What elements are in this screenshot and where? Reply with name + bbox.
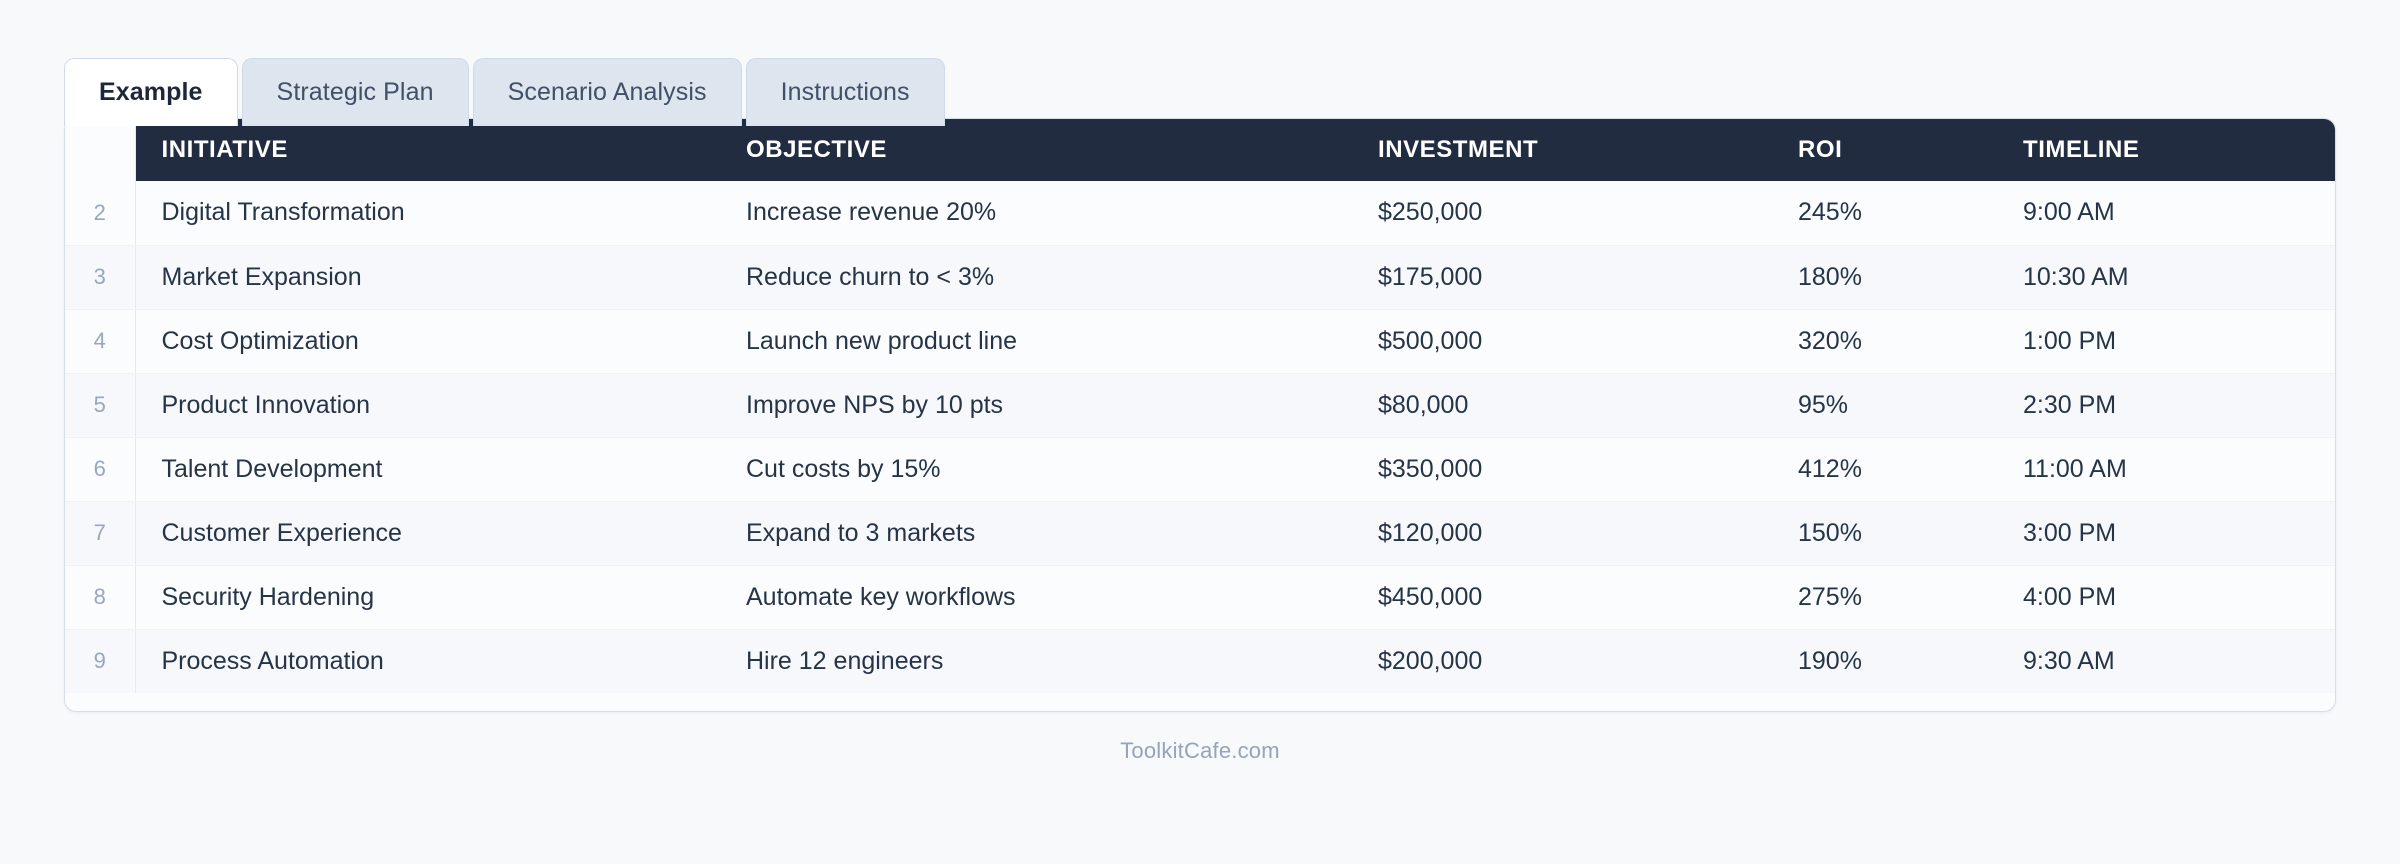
cell-initiative[interactable]: Product Innovation xyxy=(135,373,720,437)
row-number[interactable]: 7 xyxy=(65,501,135,565)
column-header-roi[interactable]: ROI xyxy=(1772,119,1997,181)
row-number[interactable]: 6 xyxy=(65,437,135,501)
table-header: INITIATIVEOBJECTIVEINVESTMENTROITIMELINE xyxy=(65,119,2336,181)
cell-initiative[interactable]: Market Expansion xyxy=(135,245,720,309)
row-number-header xyxy=(65,119,135,181)
cell-objective[interactable]: Reduce churn to < 3% xyxy=(720,245,1352,309)
cell-investment[interactable]: $350,000 xyxy=(1352,437,1772,501)
cell-roi[interactable]: 320% xyxy=(1772,309,1997,373)
cell-timeline[interactable]: 9:00 AM xyxy=(1997,181,2336,245)
cell-objective[interactable]: Improve NPS by 10 pts xyxy=(720,373,1352,437)
row-number[interactable]: 9 xyxy=(65,629,135,693)
cell-timeline[interactable]: 10:30 AM xyxy=(1997,245,2336,309)
cell-investment[interactable]: $120,000 xyxy=(1352,501,1772,565)
row-number[interactable]: 4 xyxy=(65,309,135,373)
cell-investment[interactable]: $250,000 xyxy=(1352,181,1772,245)
cell-initiative[interactable]: Cost Optimization xyxy=(135,309,720,373)
cell-objective[interactable]: Cut costs by 15% xyxy=(720,437,1352,501)
table-row[interactable]: 9Process AutomationHire 12 engineers$200… xyxy=(65,629,2336,693)
cell-initiative[interactable]: Talent Development xyxy=(135,437,720,501)
cell-objective[interactable]: Automate key workflows xyxy=(720,565,1352,629)
cell-initiative[interactable]: Customer Experience xyxy=(135,501,720,565)
cell-roi[interactable]: 412% xyxy=(1772,437,1997,501)
table-body: 2Digital TransformationIncrease revenue … xyxy=(65,181,2336,693)
spreadsheet-card: INITIATIVEOBJECTIVEINVESTMENTROITIMELINE… xyxy=(64,118,2336,712)
tab-instructions[interactable]: Instructions xyxy=(746,58,945,126)
table-row[interactable]: 3Market ExpansionReduce churn to < 3%$17… xyxy=(65,245,2336,309)
table-row[interactable]: 5Product InnovationImprove NPS by 10 pts… xyxy=(65,373,2336,437)
tab-scenario-analysis[interactable]: Scenario Analysis xyxy=(473,58,742,126)
cell-timeline[interactable]: 2:30 PM xyxy=(1997,373,2336,437)
cell-roi[interactable]: 150% xyxy=(1772,501,1997,565)
cell-timeline[interactable]: 1:00 PM xyxy=(1997,309,2336,373)
table-row[interactable]: 6Talent DevelopmentCut costs by 15%$350,… xyxy=(65,437,2336,501)
column-header-initiative[interactable]: INITIATIVE xyxy=(135,119,720,181)
row-number[interactable]: 2 xyxy=(65,181,135,245)
cell-roi[interactable]: 190% xyxy=(1772,629,1997,693)
cell-roi[interactable]: 180% xyxy=(1772,245,1997,309)
cell-objective[interactable]: Hire 12 engineers xyxy=(720,629,1352,693)
cell-timeline[interactable]: 11:00 AM xyxy=(1997,437,2336,501)
column-header-investment[interactable]: INVESTMENT xyxy=(1352,119,1772,181)
cell-objective[interactable]: Launch new product line xyxy=(720,309,1352,373)
footer-branding: ToolkitCafe.com xyxy=(0,738,2400,764)
cell-investment[interactable]: $450,000 xyxy=(1352,565,1772,629)
table-row[interactable]: 7Customer ExperienceExpand to 3 markets$… xyxy=(65,501,2336,565)
cell-initiative[interactable]: Digital Transformation xyxy=(135,181,720,245)
cell-objective[interactable]: Expand to 3 markets xyxy=(720,501,1352,565)
cell-timeline[interactable]: 9:30 AM xyxy=(1997,629,2336,693)
cell-investment[interactable]: $500,000 xyxy=(1352,309,1772,373)
column-header-objective[interactable]: OBJECTIVE xyxy=(720,119,1352,181)
table-row[interactable]: 8Security HardeningAutomate key workflow… xyxy=(65,565,2336,629)
column-header-timeline[interactable]: TIMELINE xyxy=(1997,119,2336,181)
row-number[interactable]: 8 xyxy=(65,565,135,629)
cell-initiative[interactable]: Process Automation xyxy=(135,629,720,693)
table-header-row: INITIATIVEOBJECTIVEINVESTMENTROITIMELINE xyxy=(65,119,2336,181)
tab-strip: ExampleStrategic PlanScenario AnalysisIn… xyxy=(64,58,945,126)
cell-initiative[interactable]: Security Hardening xyxy=(135,565,720,629)
cell-timeline[interactable]: 3:00 PM xyxy=(1997,501,2336,565)
tab-example[interactable]: Example xyxy=(64,58,238,126)
cell-timeline[interactable]: 4:00 PM xyxy=(1997,565,2336,629)
table-row[interactable]: 4Cost OptimizationLaunch new product lin… xyxy=(65,309,2336,373)
tab-strategic-plan[interactable]: Strategic Plan xyxy=(242,58,469,126)
row-number[interactable]: 3 xyxy=(65,245,135,309)
cell-roi[interactable]: 275% xyxy=(1772,565,1997,629)
cell-investment[interactable]: $200,000 xyxy=(1352,629,1772,693)
cell-investment[interactable]: $175,000 xyxy=(1352,245,1772,309)
table-row[interactable]: 2Digital TransformationIncrease revenue … xyxy=(65,181,2336,245)
cell-investment[interactable]: $80,000 xyxy=(1352,373,1772,437)
app-root: ExampleStrategic PlanScenario AnalysisIn… xyxy=(0,0,2400,864)
row-number[interactable]: 5 xyxy=(65,373,135,437)
cell-roi[interactable]: 245% xyxy=(1772,181,1997,245)
cell-objective[interactable]: Increase revenue 20% xyxy=(720,181,1352,245)
cell-roi[interactable]: 95% xyxy=(1772,373,1997,437)
initiatives-table: INITIATIVEOBJECTIVEINVESTMENTROITIMELINE… xyxy=(65,119,2336,693)
